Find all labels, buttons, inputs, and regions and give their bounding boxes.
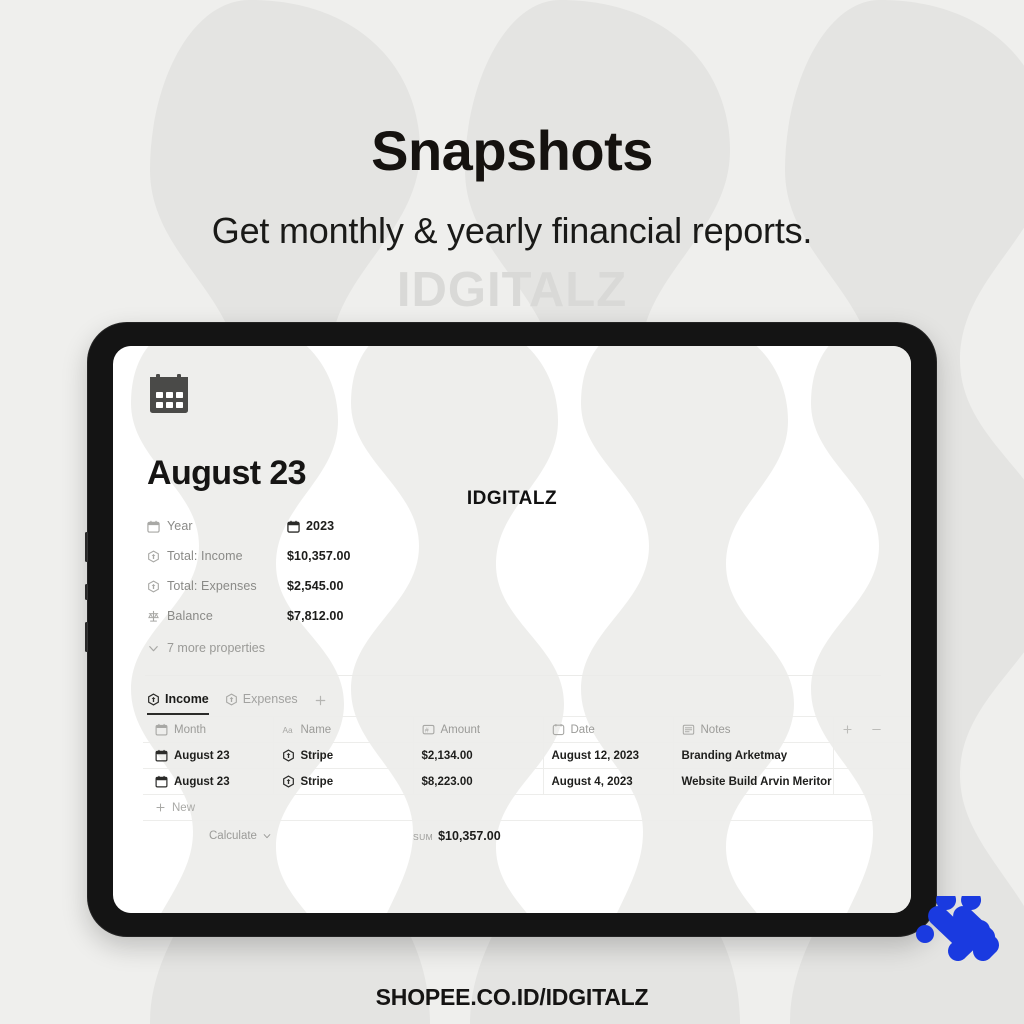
column-header-label: Notes: [701, 724, 731, 736]
column-header-amount[interactable]: # Amount: [413, 717, 543, 743]
calendar-icon: [155, 775, 168, 788]
brand-logo-icon: [916, 896, 1002, 972]
table-row[interactable]: August 23 Stripe: [143, 769, 911, 795]
cell-empty: [833, 769, 911, 795]
column-header-date[interactable]: Date: [543, 717, 673, 743]
rollup-icon: [225, 693, 238, 706]
property-label: Total: Expenses: [147, 579, 287, 593]
sum-value: $10,357.00: [438, 829, 501, 843]
cell-text: Stripe: [301, 776, 334, 788]
formula-icon: [147, 610, 160, 623]
table-footer-row: Calculate SUM $10,357.00: [143, 821, 881, 851]
notion-page: August 23 Year: [113, 346, 911, 913]
rollup-icon: [147, 580, 160, 593]
chevron-down-icon: [147, 642, 160, 655]
more-properties-label: 7 more properties: [167, 641, 265, 655]
cell-date: August 12, 2023: [543, 743, 673, 769]
calendar-icon: [155, 749, 168, 762]
cell-name: Stripe: [273, 769, 413, 795]
database-table: Month Aa Name: [143, 716, 911, 795]
rollup-icon: [147, 693, 160, 706]
cell-text: August 23: [174, 750, 230, 762]
ellipsis-icon[interactable]: [871, 724, 882, 735]
cell-empty: [833, 743, 911, 769]
rollup-icon: [282, 775, 295, 788]
number-icon: #: [422, 723, 435, 736]
page-properties: Year 2023: [147, 511, 881, 631]
add-new-row-label: New: [172, 802, 195, 814]
column-header-label: Name: [301, 724, 332, 736]
cell-amount: $2,134.00: [413, 743, 543, 769]
property-value-text: $10,357.00: [287, 549, 351, 563]
screen-watermark: IDGITALZ: [113, 488, 911, 510]
property-label-text: Year: [167, 519, 193, 533]
column-header-label: Amount: [441, 724, 481, 736]
table-row[interactable]: August 23 Stripe: [143, 743, 911, 769]
calculate-label: Calculate: [209, 830, 257, 842]
property-label: Balance: [147, 609, 287, 623]
property-label: Year: [147, 519, 287, 533]
column-header-actions: [833, 717, 911, 743]
rollup-icon: [147, 550, 160, 563]
column-header-name[interactable]: Aa Name: [273, 717, 413, 743]
property-label-text: Total: Expenses: [167, 579, 257, 593]
property-value-text: $7,812.00: [287, 609, 344, 623]
tab-label: Income: [165, 692, 209, 706]
property-row-year[interactable]: Year 2023: [147, 511, 881, 541]
tab-label: Expenses: [243, 692, 298, 706]
tab-income[interactable]: Income: [147, 692, 209, 715]
background-watermark: IDGITALZ: [0, 262, 1024, 318]
property-value-text: 2023: [306, 519, 334, 533]
promo-canvas: IDGITALZ Snapshots Get monthly & yearly …: [0, 0, 1024, 1024]
column-header-label: Date: [571, 724, 595, 736]
property-value: $2,545.00: [287, 579, 344, 593]
cell-notes: Branding Arketmay: [673, 743, 833, 769]
calendar-icon: [287, 520, 300, 533]
calendar-icon: [147, 372, 193, 416]
database-tabs: Income Expenses: [147, 692, 881, 715]
title-icon: Aa: [282, 723, 295, 736]
rollup-icon: [282, 749, 295, 762]
add-view-button[interactable]: [314, 694, 327, 714]
cell-name: Stripe: [273, 743, 413, 769]
property-label-text: Total: Income: [167, 549, 243, 563]
column-header-label: Month: [174, 724, 206, 736]
text-icon: [682, 723, 695, 736]
property-value: $7,812.00: [287, 609, 344, 623]
property-row-total-income[interactable]: Total: Income $10,357.00: [147, 541, 881, 571]
promo-subheadline: Get monthly & yearly financial reports.: [0, 210, 1024, 252]
tablet-side-button-volume-up: [85, 532, 88, 562]
property-row-balance[interactable]: Balance $7,812.00: [147, 601, 881, 631]
calendar-icon: [147, 520, 160, 533]
property-row-total-expenses[interactable]: Total: Expenses $2,545.00: [147, 571, 881, 601]
cell-month: August 23: [143, 743, 273, 769]
tablet-device-mockup: IDGITALZ: [87, 322, 937, 937]
cell-text: Stripe: [301, 750, 334, 762]
table-header-row: Month Aa Name: [143, 717, 911, 743]
footer-shop-url: SHOPEE.CO.ID/IDGITALZ: [0, 984, 1024, 1011]
tablet-side-button-volume-down: [85, 584, 88, 600]
content-divider: [145, 675, 881, 676]
cell-notes: Website Build Arvin Meritor: [673, 769, 833, 795]
svg-text:#: #: [424, 728, 428, 735]
plus-icon: [314, 694, 327, 707]
plus-icon: [155, 802, 166, 813]
property-label: Total: Income: [147, 549, 287, 563]
more-properties-toggle[interactable]: 7 more properties: [147, 641, 881, 655]
property-value: 2023: [287, 519, 334, 533]
sum-label: SUM: [413, 832, 433, 842]
date-icon: [552, 723, 565, 736]
tablet-screen: IDGITALZ: [113, 346, 911, 913]
cell-amount: $8,223.00: [413, 769, 543, 795]
add-new-row-button[interactable]: New: [143, 795, 881, 821]
cell-text: August 23: [174, 776, 230, 788]
column-header-month[interactable]: Month: [143, 717, 273, 743]
cell-month: August 23: [143, 769, 273, 795]
property-label-text: Balance: [167, 609, 213, 623]
calculate-dropdown[interactable]: Calculate: [143, 830, 413, 842]
property-value-text: $2,545.00: [287, 579, 344, 593]
tablet-side-button-power: [85, 622, 88, 652]
promo-headline: Snapshots: [0, 118, 1024, 183]
cell-date: August 4, 2023: [543, 769, 673, 795]
column-header-notes[interactable]: Notes: [673, 717, 833, 743]
property-value: $10,357.00: [287, 549, 351, 563]
sum-aggregate[interactable]: SUM $10,357.00: [413, 829, 501, 843]
tab-expenses[interactable]: Expenses: [225, 692, 298, 715]
plus-icon[interactable]: [842, 724, 853, 735]
calendar-icon: [155, 723, 168, 736]
chevron-down-icon: [262, 831, 272, 841]
svg-text:Aa: Aa: [282, 725, 293, 735]
